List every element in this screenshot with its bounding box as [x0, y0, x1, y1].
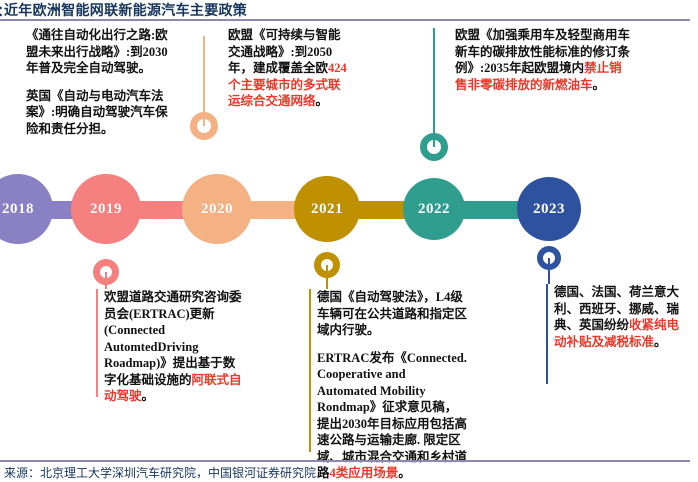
title-divider — [0, 19, 690, 21]
pin-donut-icon — [420, 133, 448, 161]
callout-2023[interactable]: 德国、法国、荷兰意大利、西班牙、挪威、瑞典、英国纷纷收紧纯电动补贴及减税标准。 — [554, 284, 682, 350]
body-text: 。 — [142, 389, 155, 403]
pin-donut-icon — [314, 252, 340, 278]
callout-accent-rule — [546, 284, 548, 384]
callout-2019[interactable]: 欢盟道路交通研究咨询委员会(ERTRAC)更新(Connected Automt… — [104, 289, 244, 405]
body-text: 德国《自动驾驶法》，L4级车辆可在公共道路和指定区域内行驶。 — [317, 290, 467, 337]
timeline-node-label: 2021 — [311, 201, 343, 218]
body-text: 。 — [593, 78, 606, 92]
timeline-node-2020[interactable]: 2020 — [182, 174, 252, 244]
timeline-node-2018[interactable]: 2018 — [0, 174, 53, 244]
source-note: 来源：北京理工大学深圳汽车研究院，中国银河证券研究院 — [4, 464, 316, 481]
title-label: 近年欧洲智能网联新能源汽车主要政策 — [4, 0, 247, 20]
callout-paragraph: 英国《自动与电动汽车法案》:明确自动驾驶汽车保险和责任分担。 — [26, 88, 176, 138]
pin-donut-icon — [93, 259, 119, 285]
callout-paragraph: 德国《自动驾驶法》，L4级车辆可在公共道路和指定区域内行驶。 — [317, 289, 467, 339]
body-text: 。 — [654, 335, 667, 349]
timeline-node-2023[interactable]: 2023 — [517, 177, 581, 241]
timeline-node-label: 2020 — [201, 201, 233, 218]
callout-paragraph: 欢盟道路交通研究咨询委员会(ERTRAC)更新(Connected Automt… — [104, 289, 244, 405]
timeline-node-label: 2019 — [90, 201, 122, 218]
body-text: 。 — [316, 94, 329, 108]
timeline-node-2019[interactable]: 2019 — [71, 174, 141, 244]
timeline-node-2021[interactable]: 2021 — [294, 176, 360, 242]
timeline-node-label: 2018 — [2, 201, 34, 218]
callout-paragraph: 欧盟《可持续与智能交通战略》:到2050年，建成覆盖全欧424 个主要城市的多式… — [228, 27, 348, 110]
callout-2022[interactable]: 欧盟《加强乘用车及轻型商用车新车的碳排放性能标准的修订条例》:2035年起欧盟境… — [455, 27, 630, 93]
footer-divider — [0, 460, 690, 462]
callout-2021[interactable]: 德国《自动驾驶法》，L4级车辆可在公共道路和指定区域内行驶。ERTRAC发布《C… — [317, 289, 467, 482]
page-title: ： 近年欧洲智能网联新能源汽车主要政策 — [0, 0, 698, 20]
callout-paragraph: ERTRAC发布《Connected. Cooperative and Auto… — [317, 350, 467, 482]
callout-2020[interactable]: 欧盟《可持续与智能交通战略》:到2050年，建成覆盖全欧424 个主要城市的多式… — [228, 27, 348, 110]
pin-stem — [433, 28, 435, 147]
timeline-node-label: 2023 — [533, 201, 565, 218]
highlighted-text: 4类应用场景 — [330, 466, 399, 480]
pin-donut-icon — [190, 112, 218, 140]
body-text: 欧盟《可持续与智能交通战略》:到2050年，建成覆盖全欧 — [228, 28, 341, 75]
pin-donut-icon — [537, 246, 561, 270]
callout-paragraph: 《通往自动化出行之路:欧盟未来出行战略》:到2030年普及完全自动驾驶。 — [26, 27, 176, 77]
callout-paragraph: 欧盟《加强乘用车及轻型商用车新车的碳排放性能标准的修订条例》:2035年起欧盟境… — [455, 27, 630, 93]
body-text: 英国《自动与电动汽车法案》:明确自动驾驶汽车保险和责任分担。 — [26, 89, 168, 136]
callout-paragraph: 德国、法国、荷兰意大利、西班牙、挪威、瑞典、英国纷纷收紧纯电动补贴及减税标准。 — [554, 284, 682, 350]
callout-accent-rule — [96, 289, 98, 397]
callout-accent-rule — [309, 289, 311, 452]
timeline-node-2022[interactable]: 2022 — [403, 178, 465, 240]
infographic-canvas: ： 近年欧洲智能网联新能源汽车主要政策 20182019202020212022… — [0, 0, 698, 479]
body-text: 《通往自动化出行之路:欧盟未来出行战略》:到2030年普及完全自动驾驶。 — [26, 28, 168, 75]
callout-2018[interactable]: 《通往自动化出行之路:欧盟未来出行战略》:到2030年普及完全自动驾驶。英国《自… — [26, 27, 176, 137]
body-text: 。 — [398, 466, 411, 480]
timeline-node-label: 2022 — [418, 201, 450, 218]
